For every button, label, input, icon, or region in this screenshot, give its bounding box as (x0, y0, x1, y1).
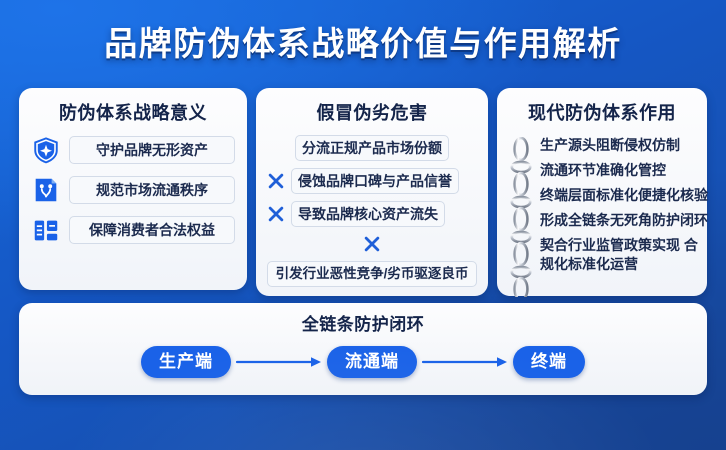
x-mark-standalone (267, 235, 477, 253)
poster-title-container: 品牌防伪体系战略价值与作用解析 (0, 24, 726, 64)
flow-step-circulation[interactable]: 流通端 (327, 346, 417, 378)
poster-canvas: 品牌防伪体系战略价值与作用解析 防伪体系战略意义 守护品牌无形资产 (0, 0, 726, 450)
list-item-label: 引发行业恶性竞争/劣币驱逐良币 (267, 261, 477, 287)
list-item: 保障消费者合法权益 (31, 215, 235, 245)
list-item: 生产源头阻断侵权仿制 (540, 136, 708, 155)
list-bars-icon (31, 215, 61, 245)
list-item: 分流正规产品市场份额 (267, 135, 477, 161)
arrow-right-icon (231, 354, 327, 370)
list-item: 导致品牌核心资产流失 (267, 201, 477, 227)
x-mark-icon (363, 235, 381, 253)
flow-document-icon (31, 175, 61, 205)
chain-column (508, 135, 534, 302)
list-item: 终端层面标准化便捷化核验 (540, 186, 708, 205)
arrow-right-icon (417, 354, 513, 370)
list-item: 契合行业监管政策实现 合规化标准化运营 (540, 236, 708, 274)
list-item-label: 守护品牌无形资产 (69, 136, 235, 164)
list-item-label: 导致品牌核心资产流失 (291, 201, 445, 227)
list-item-label: 分流正规产品市场份额 (295, 135, 449, 161)
flow-step-production[interactable]: 生产端 (141, 346, 231, 378)
modern-system-role-list: 生产源头阻断侵权仿制 流通环节准确化管控 终端层面标准化便捷化核验 形成全链条无… (540, 135, 708, 274)
card-modern-system-role: 现代防伪体系作用 (497, 88, 707, 296)
cards-row: 防伪体系战略意义 守护品牌无形资产 (19, 88, 707, 296)
list-item-label: 保障消费者合法权益 (69, 216, 235, 244)
bottom-panel: 全链条防护闭环 生产端 流通端 终端 (19, 303, 707, 395)
list-item: 形成全链条无死角防护闭环 (540, 211, 708, 230)
page-title: 品牌防伪体系战略价值与作用解析 (104, 24, 622, 64)
bottom-panel-heading: 全链条防护闭环 (19, 313, 707, 336)
list-item: 侵蚀品牌口碑与产品信誉 (267, 168, 477, 194)
x-mark-icon (267, 172, 285, 190)
list-item: 规范市场流通秩序 (31, 175, 235, 205)
card-modern-system-role-heading: 现代防伪体系作用 (507, 101, 697, 125)
x-mark-icon (267, 205, 285, 223)
card-counterfeit-harm-heading: 假冒伪劣危害 (266, 101, 478, 125)
list-item: 引发行业恶性竞争/劣币驱逐良币 (267, 261, 477, 287)
list-item-label: 规范市场流通秩序 (69, 176, 235, 204)
shield-star-icon (31, 135, 61, 165)
card-strategic-meaning-heading: 防伪体系战略意义 (29, 101, 237, 125)
flow-diagram: 生产端 流通端 终端 (19, 346, 707, 378)
list-item: 守护品牌无形资产 (31, 135, 235, 165)
strategic-meaning-list: 守护品牌无形资产 规范市场流通秩序 (29, 135, 237, 245)
chain-link-icon (508, 137, 534, 297)
flow-step-terminal[interactable]: 终端 (513, 346, 585, 378)
card-counterfeit-harm: 假冒伪劣危害 分流正规产品市场份额 侵蚀品牌口碑与产品信誉 导致品牌核心资产流失 (256, 88, 488, 296)
card-strategic-meaning: 防伪体系战略意义 守护品牌无形资产 (19, 88, 247, 290)
counterfeit-harm-list: 分流正规产品市场份额 侵蚀品牌口碑与产品信誉 导致品牌核心资产流失 (266, 135, 478, 287)
list-item-label: 侵蚀品牌口碑与产品信誉 (291, 168, 459, 194)
modern-system-role-body: 生产源头阻断侵权仿制 流通环节准确化管控 终端层面标准化便捷化核验 形成全链条无… (507, 135, 697, 302)
list-item: 流通环节准确化管控 (540, 161, 708, 180)
